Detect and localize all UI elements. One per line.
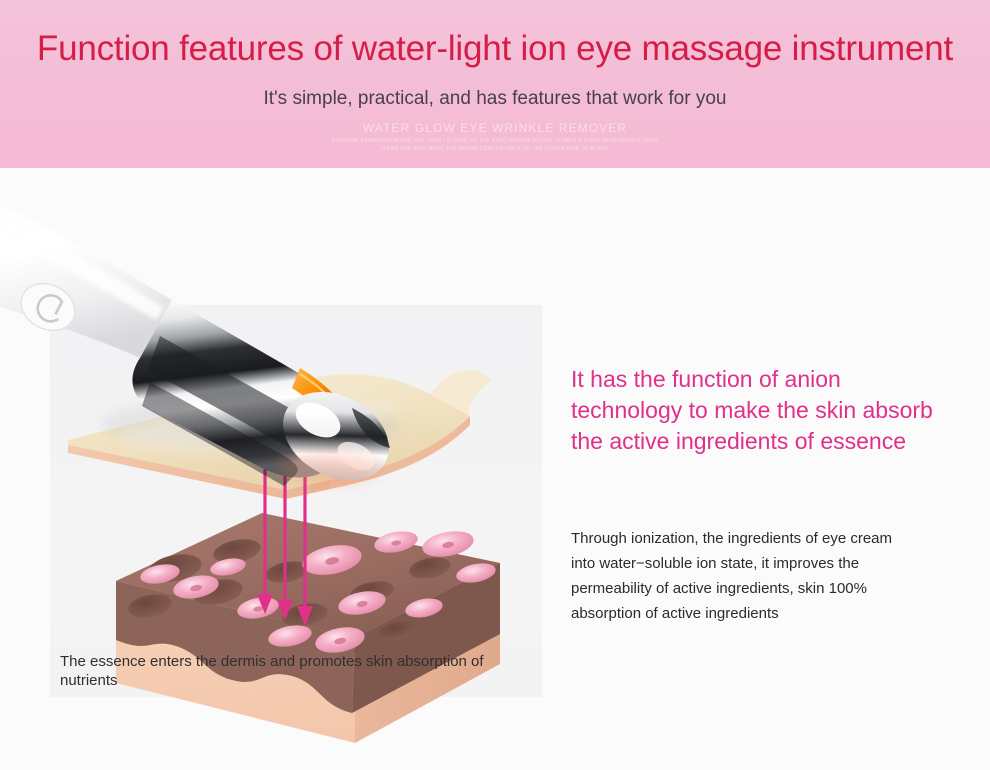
header-banner: Function features of water-light ion eye… bbox=[0, 0, 990, 168]
feature-description-line-4: absorption of active ingredients bbox=[571, 601, 956, 626]
feature-text-column: It has the function of anion technology … bbox=[571, 364, 951, 457]
feature-description: Through ionization, the ingredients of e… bbox=[571, 526, 956, 626]
feature-heading: It has the function of anion technology … bbox=[571, 364, 951, 457]
watermark-line-2: ITEMS AND WHO MADE THE KARMA COMFORTABLE… bbox=[0, 146, 990, 152]
page-title: Function features of water-light ion eye… bbox=[0, 29, 990, 69]
skin-block bbox=[116, 513, 500, 743]
watermark-line-1: PHYSICAL EXAMINATION AND THE USER TO SEN… bbox=[0, 138, 990, 144]
watermark-heading: WATER GLOW EYE WRINKLE REMOVER bbox=[0, 121, 990, 135]
feature-description-line-2: into water−soluble ion state, it improve… bbox=[571, 551, 956, 576]
feature-description-line-3: permeability of active ingredients, skin… bbox=[571, 576, 956, 601]
content-stage: The essence enters the dermis and promot… bbox=[0, 168, 990, 770]
illustration-caption: The essence enters the dermis and promot… bbox=[60, 652, 490, 690]
feature-description-line-1: Through ionization, the ingredients of e… bbox=[571, 526, 956, 551]
page-subtitle: It's simple, practical, and has features… bbox=[0, 88, 990, 110]
